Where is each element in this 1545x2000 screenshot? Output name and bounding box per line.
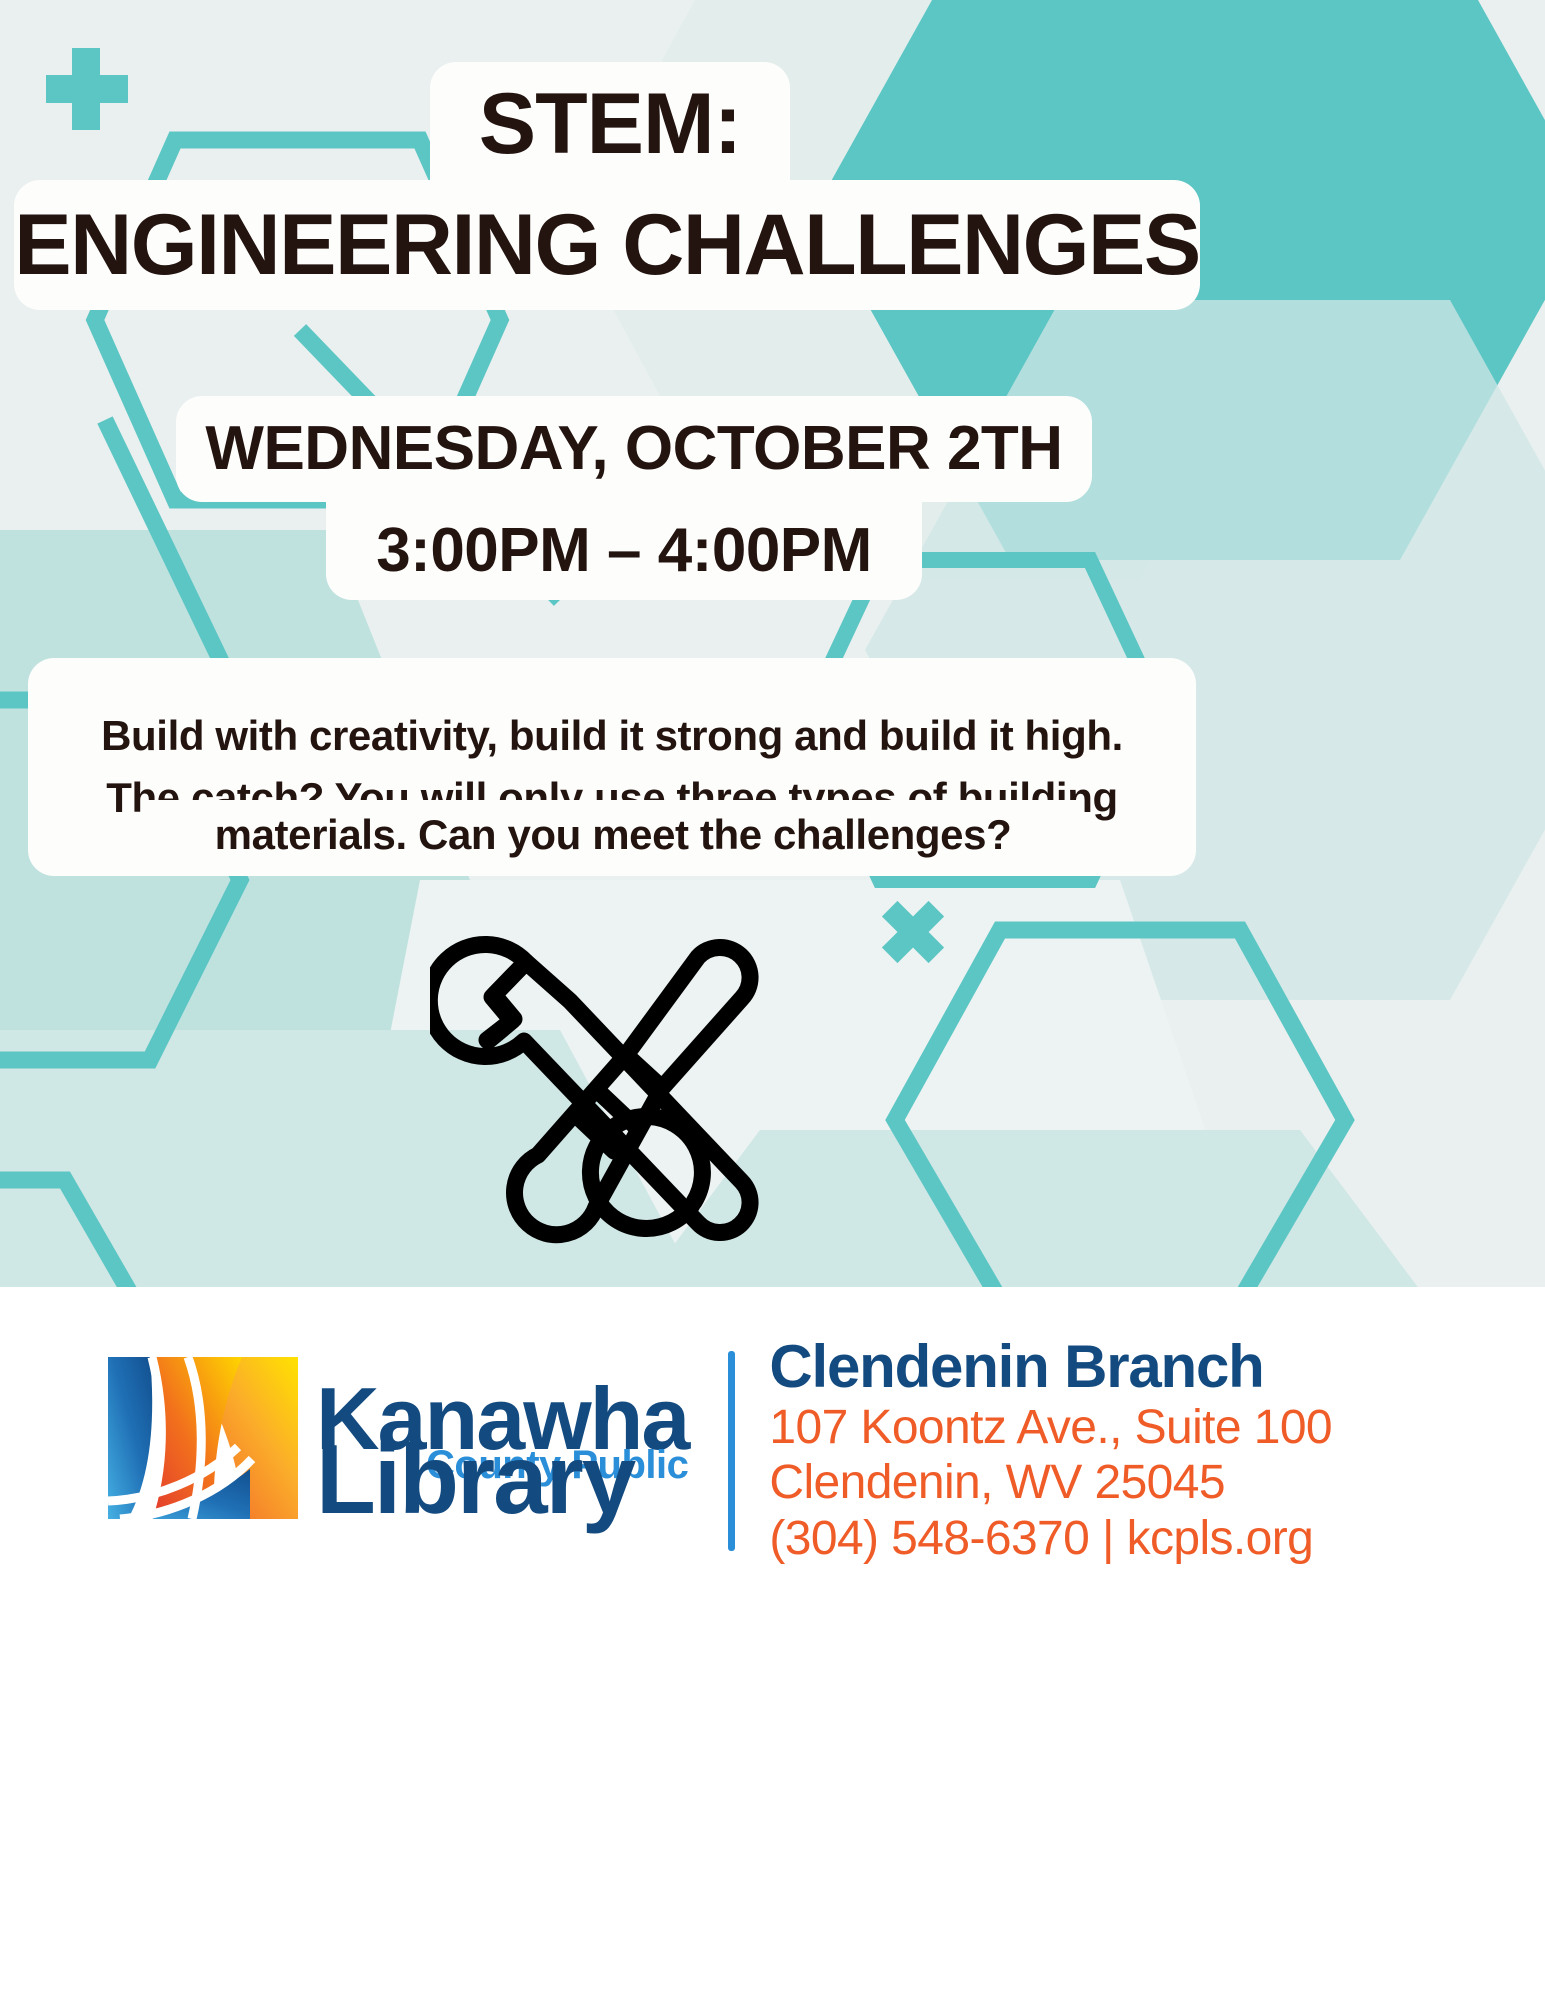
flyer-poster: STEM: ENGINEERING CHALLENGES WEDNESDAY, … (0, 0, 1545, 2000)
library-wordmark: Kanawha County Public Library (316, 1381, 688, 1521)
branch-address-line-1: 107 Koontz Ave., Suite 100 (769, 1400, 1332, 1456)
footer-divider (728, 1351, 735, 1551)
kanawha-book-fan-logo-icon (92, 1351, 308, 1551)
footer-bar: Kanawha County Public Library Clendenin … (0, 1287, 1545, 2000)
branch-info-block: Clendenin Branch 107 Koontz Ave., Suite … (769, 1335, 1332, 1567)
event-time: 3:00PM – 4:00PM (376, 520, 872, 582)
branch-name: Clendenin Branch (769, 1335, 1332, 1400)
date-plate: WEDNESDAY, OCTOBER 2TH (176, 396, 1092, 502)
title-plate-stem: STEM: (430, 62, 790, 186)
event-date: WEDNESDAY, OCTOBER 2TH (205, 418, 1062, 480)
title-line-1: STEM: (479, 81, 742, 167)
branch-address-line-2: Clendenin, WV 25045 (769, 1455, 1332, 1511)
time-plate: 3:00PM – 4:00PM (326, 502, 922, 600)
title-plate-main: ENGINEERING CHALLENGES (14, 180, 1200, 310)
wrench-and-screwdriver-icon (430, 905, 790, 1280)
branch-contact-line: (304) 548-6370 | kcpls.org (769, 1511, 1332, 1567)
logo-name-library: Library (316, 1437, 688, 1521)
description-plate-last-line: materials. Can you meet the challenges? (148, 800, 1078, 870)
description-line-1: Build with creativity, build it strong a… (101, 705, 1123, 767)
description-line-3: materials. Can you meet the challenges? (215, 804, 1012, 866)
title-line-2: ENGINEERING CHALLENGES (14, 202, 1199, 288)
